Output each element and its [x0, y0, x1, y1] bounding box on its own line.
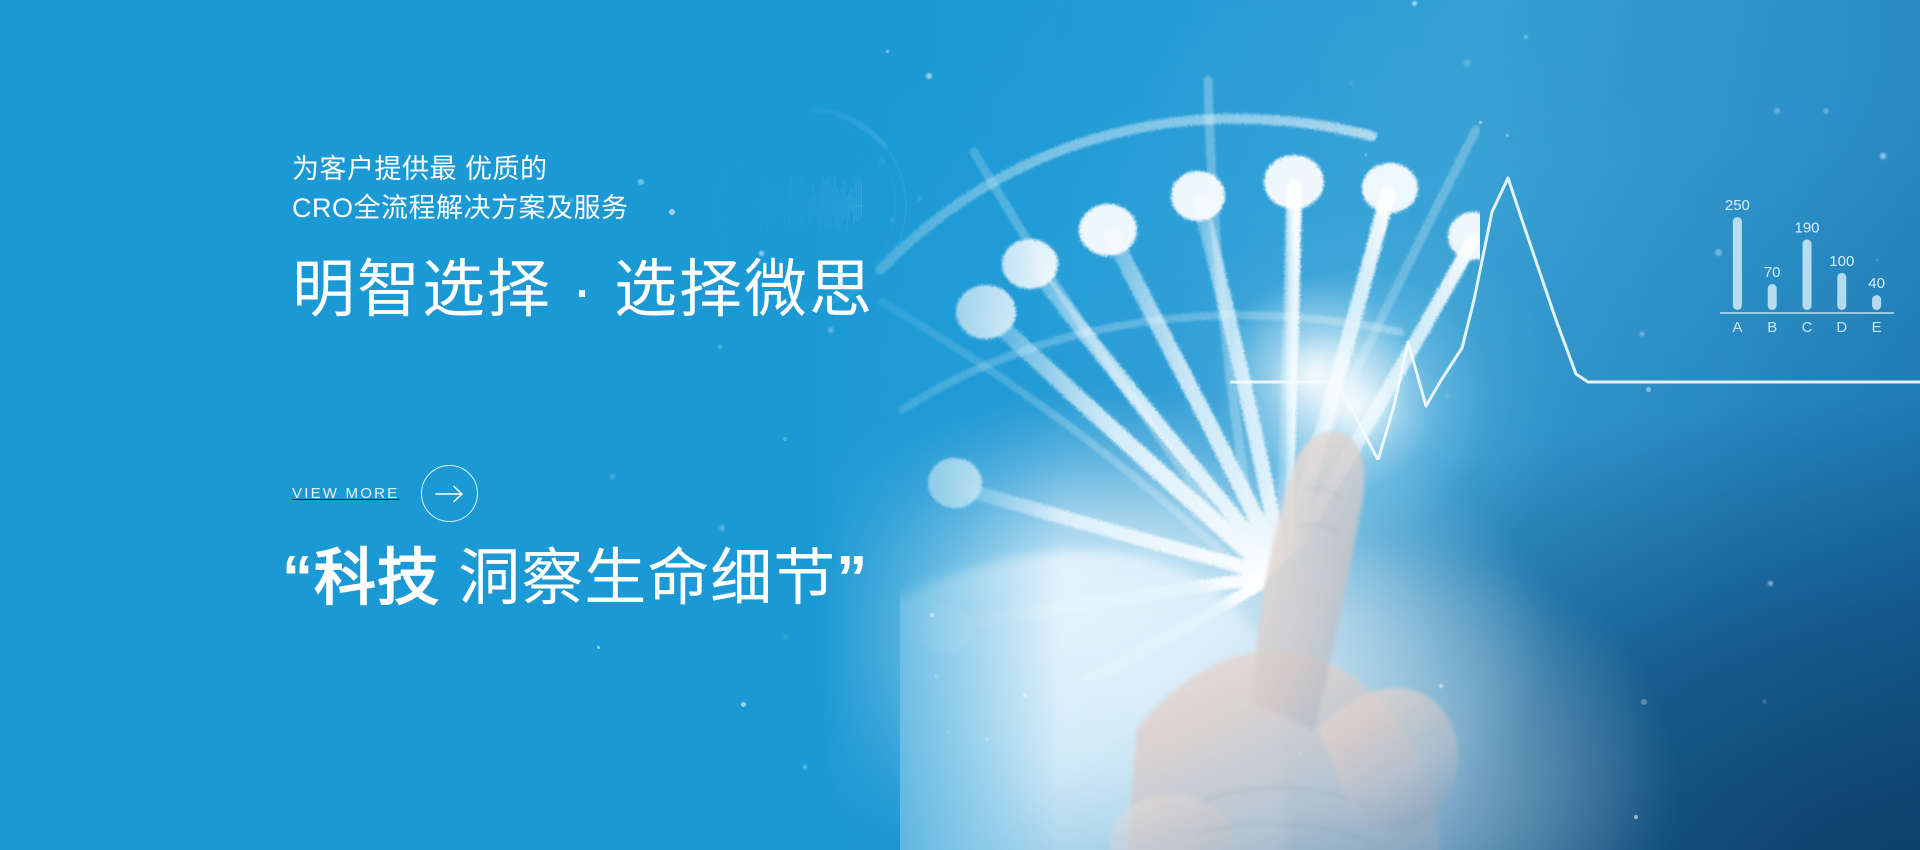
particle: [1464, 60, 1470, 66]
particle: [828, 327, 834, 333]
particle: [1774, 108, 1780, 114]
particle: [1023, 693, 1027, 697]
particle: [1646, 387, 1651, 392]
particle: [1880, 153, 1886, 159]
particle: [1876, 259, 1878, 261]
particle: [597, 646, 600, 649]
particle: [718, 345, 722, 349]
particle: [1350, 82, 1352, 84]
particle: [947, 731, 950, 734]
particle: [1641, 699, 1647, 705]
particle: [1524, 35, 1528, 39]
hero-banner: 250A70B190C100D40E: [0, 0, 1920, 850]
particle: [1446, 394, 1449, 397]
particle: [1715, 249, 1722, 256]
particle: [1391, 164, 1396, 169]
arrow-right-icon[interactable]: [421, 465, 478, 522]
particle: [1189, 385, 1193, 389]
particle: [926, 73, 932, 79]
particle: [1763, 700, 1766, 703]
hero-subtitle-line2: CRO全流程解决方案及服务: [292, 189, 1052, 228]
particle: [1479, 121, 1482, 124]
particle: [886, 50, 889, 53]
particle: [1465, 691, 1467, 693]
particle: [986, 738, 989, 741]
quote-light-text: 洞察生命细节: [458, 544, 836, 613]
particle: [1768, 581, 1773, 586]
particle: [934, 674, 939, 679]
particle: [720, 526, 724, 530]
particle: [1299, 753, 1301, 755]
quote-close-mark: ”: [836, 544, 868, 613]
quote-space: [440, 544, 458, 613]
view-more-label: VIEW MORE: [292, 485, 399, 502]
particle: [784, 635, 787, 638]
quote-strong-text: 科技: [314, 544, 440, 613]
view-more-button[interactable]: VIEW MORE: [292, 465, 478, 522]
particle: [1439, 684, 1443, 688]
hero-subtitle-line1: 为客户提供最 优质的: [292, 150, 1052, 189]
quote-open-mark: “: [282, 544, 314, 613]
particle: [1823, 108, 1829, 114]
particle: [1634, 815, 1638, 819]
particle: [1365, 154, 1367, 156]
particle: [1506, 134, 1509, 137]
particle: [1412, 1, 1417, 6]
floating-particles: [0, 0, 1920, 850]
particle: [930, 613, 934, 617]
hero-headline: 明智选择 · 选择微思: [292, 255, 1052, 326]
particle: [803, 765, 807, 769]
particle: [610, 474, 615, 479]
particle: [1640, 332, 1644, 336]
particle: [783, 437, 787, 441]
particle: [741, 702, 746, 707]
hero-quote: “科技 洞察生命细节”: [282, 545, 868, 613]
hero-copy: 为客户提供最 优质的 CRO全流程解决方案及服务 明智选择 · 选择微思: [292, 150, 1052, 325]
